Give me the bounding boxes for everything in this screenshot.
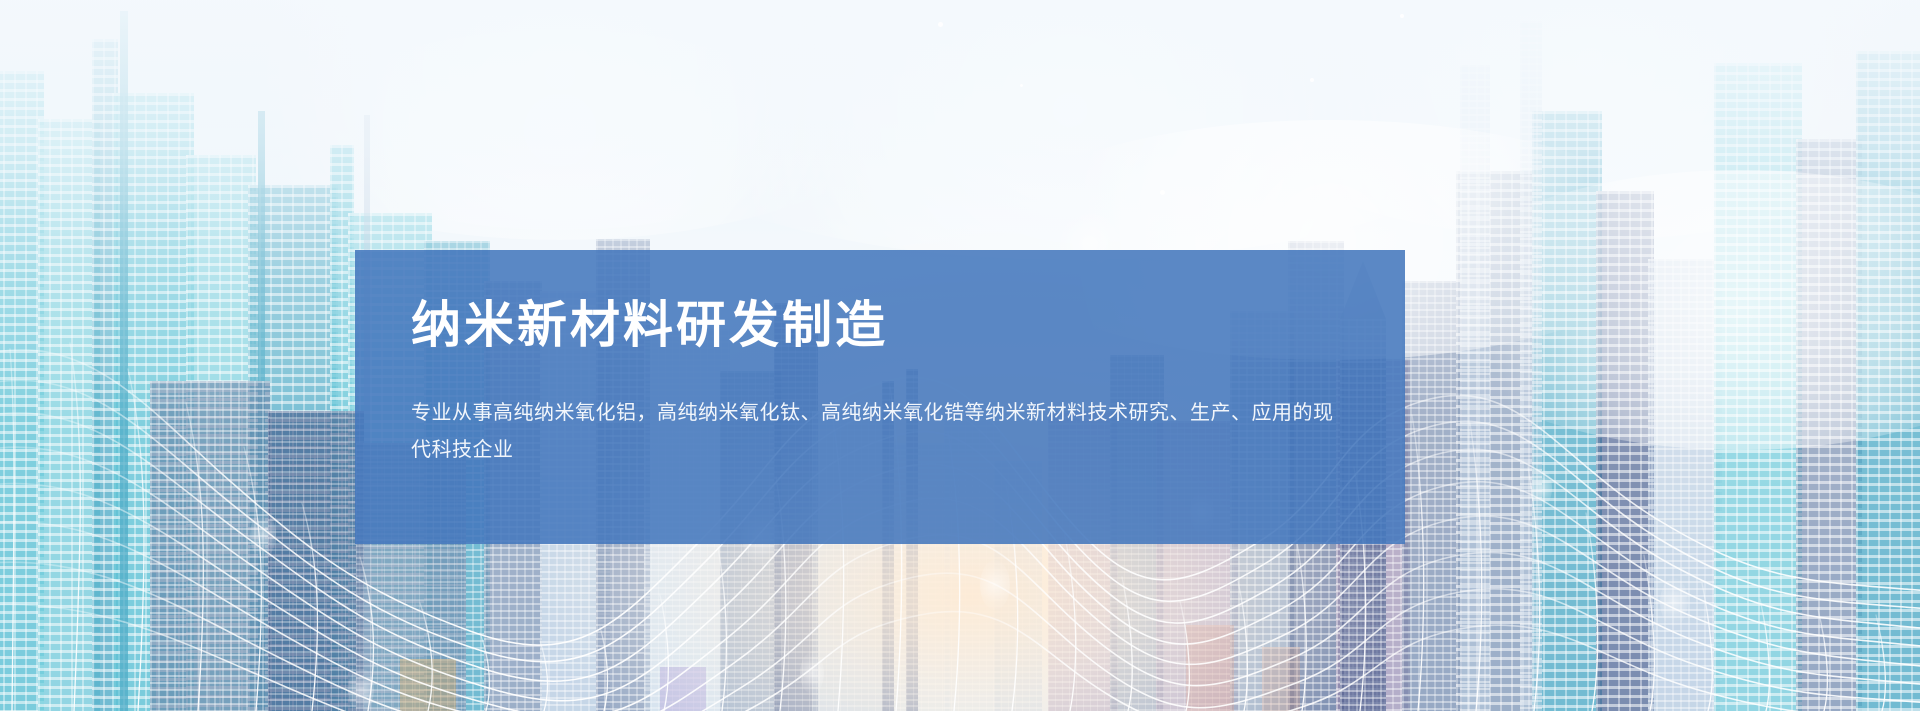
hero-text-panel: 纳米新材料研发制造 专业从事高纯纳米氧化铝，高纯纳米氧化钛、高纯纳米氧化锆等纳米… [355, 250, 1405, 544]
hero-banner: 纳米新材料研发制造 专业从事高纯纳米氧化铝，高纯纳米氧化钛、高纯纳米氧化锆等纳米… [0, 0, 1920, 711]
page-subtitle: 专业从事高纯纳米氧化铝，高纯纳米氧化钛、高纯纳米氧化锆等纳米新材料技术研究、生产… [411, 395, 1349, 469]
page-title: 纳米新材料研发制造 [411, 298, 1349, 353]
